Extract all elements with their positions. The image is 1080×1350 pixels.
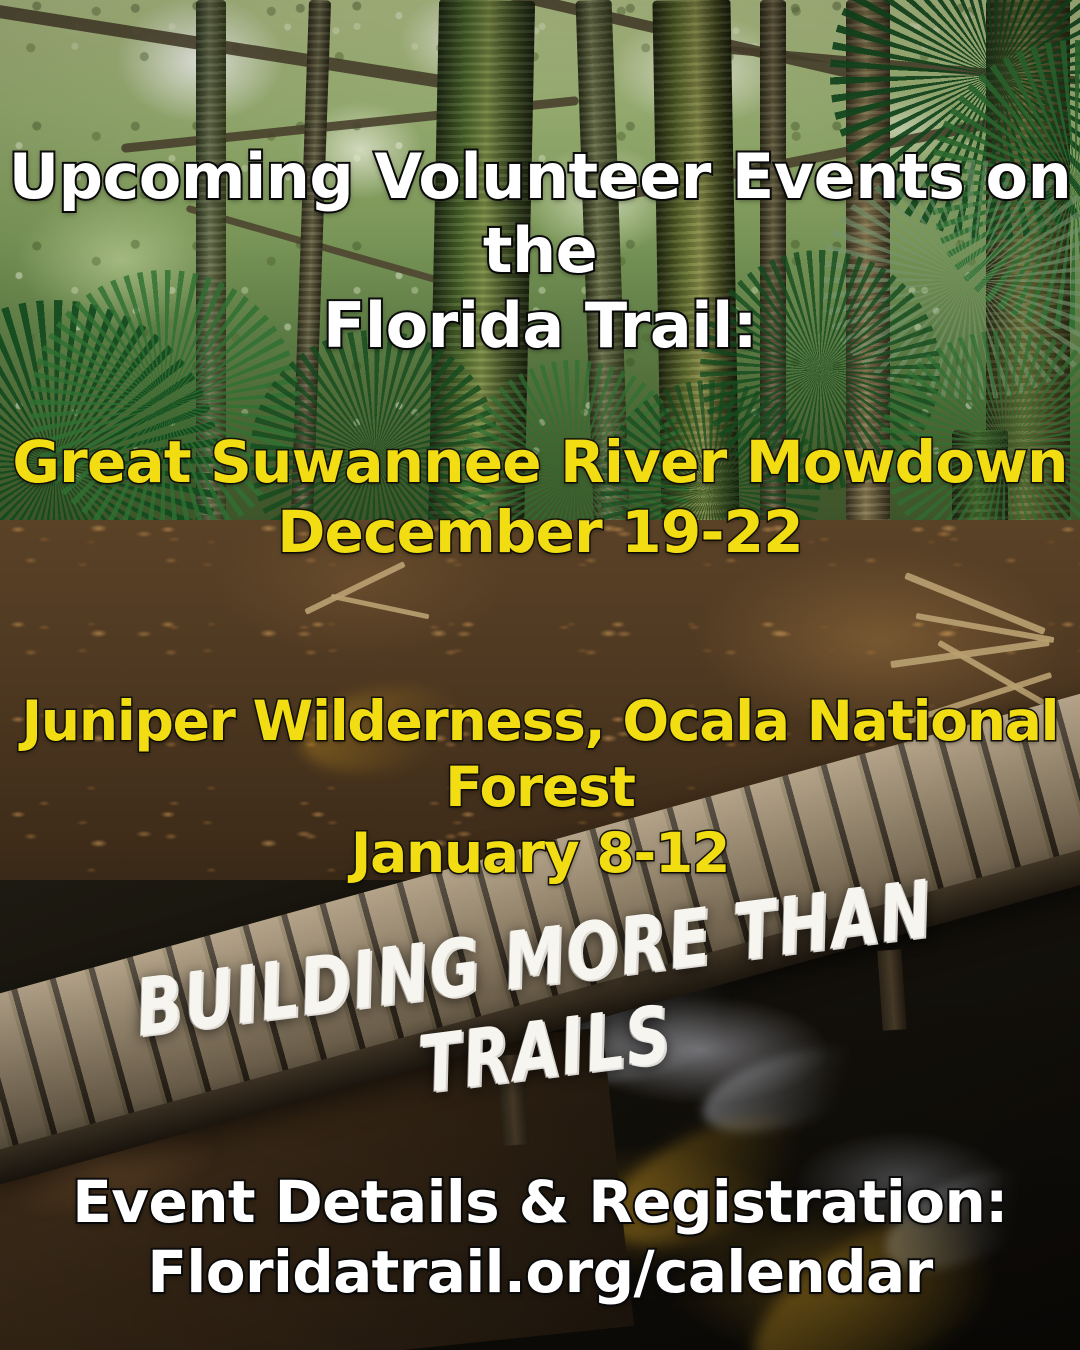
headline-line-2: Florida Trail: xyxy=(0,289,1080,363)
footer-line-2: Floridatrail.org/calendar xyxy=(0,1238,1080,1308)
poster-headline: Upcoming Volunteer Events on the Florida… xyxy=(0,140,1080,363)
event-1-block: Great Suwannee River Mowdown December 19… xyxy=(0,428,1080,567)
poster-text-layer: Upcoming Volunteer Events on the Florida… xyxy=(0,0,1080,1350)
poster-canvas: Upcoming Volunteer Events on the Florida… xyxy=(0,0,1080,1350)
headline-line-1: Upcoming Volunteer Events on the xyxy=(0,140,1080,289)
event-2-dates: January 8-12 xyxy=(0,820,1080,886)
brand-tagline: BUILDING MORE THAN TRAILS xyxy=(0,855,1080,1153)
tagline-text: BUILDING MORE THAN TRAILS xyxy=(9,847,1071,1161)
event-2-block: Juniper Wilderness, Ocala National Fores… xyxy=(0,688,1080,886)
event-2-name: Juniper Wilderness, Ocala National Fores… xyxy=(0,688,1080,820)
poster-footer: Event Details & Registration: Floridatra… xyxy=(0,1168,1080,1307)
event-1-dates: December 19-22 xyxy=(0,498,1080,568)
footer-line-1: Event Details & Registration: xyxy=(0,1168,1080,1238)
event-1-name: Great Suwannee River Mowdown xyxy=(0,428,1080,498)
